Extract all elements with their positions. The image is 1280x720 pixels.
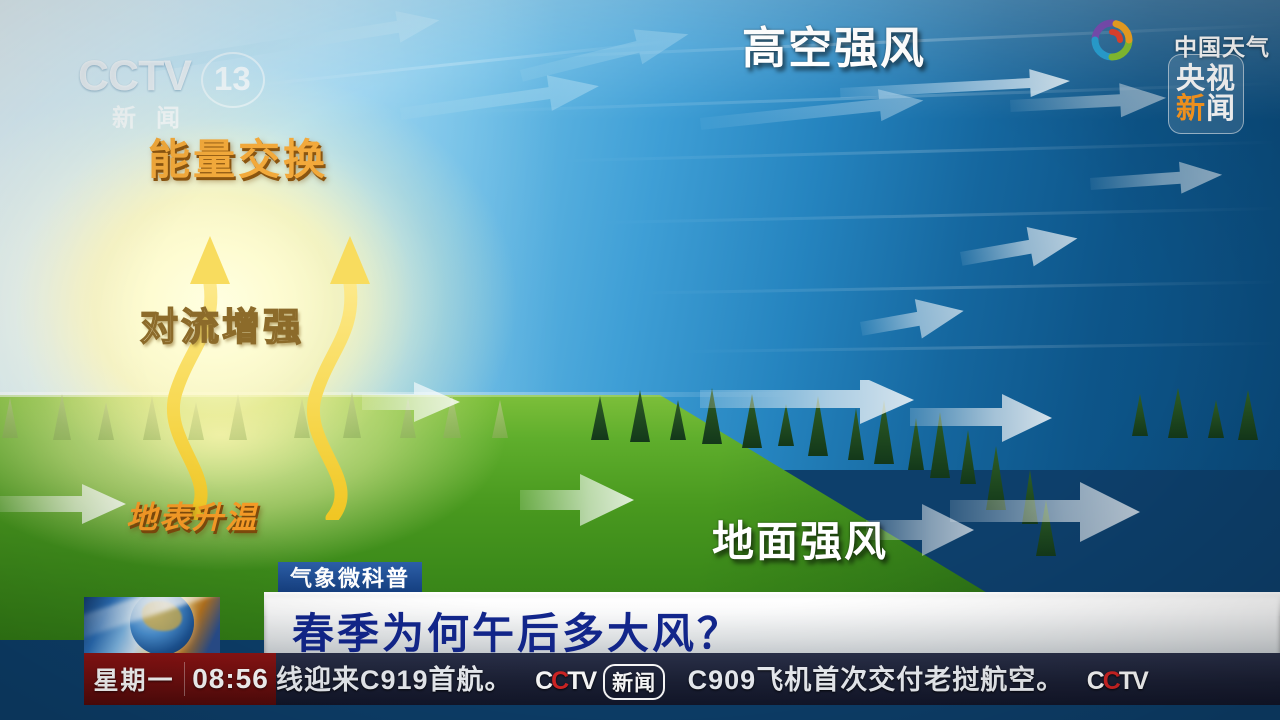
ticker-cctv-text: CCTV (535, 667, 595, 696)
cctv-news-badge: 央视 新闻 (1168, 54, 1244, 134)
channel-watermark: CCTV 13 新闻 (78, 52, 298, 130)
ticker-news-badge: 新闻 (603, 664, 665, 700)
label-energy-exchange: 能量交换 (148, 126, 328, 187)
badge-char-white: 闻 (1206, 93, 1236, 125)
news-ticker: 线迎来C919首航。 CCTV 新闻 C909飞机首次交付老挝航空。 CCTV (276, 653, 1280, 705)
headline-text: 春季为何午后多大风？ (292, 600, 742, 661)
status-bar: 星期一 08:56 (84, 653, 276, 705)
category-tag: 气象微科普 (278, 562, 422, 592)
ticker-content: 线迎来C919首航。 CCTV 新闻 C909飞机首次交付老挝航空。 CCTV (276, 658, 1161, 700)
cctv-news-badge-line2: 新闻 (1176, 95, 1236, 124)
channel-watermark-main: CCTV (78, 52, 191, 100)
label-surface-heating: 地表升温 (126, 492, 258, 537)
clock-label: 08:56 (185, 663, 276, 695)
channel-watermark-sub: 新闻 (112, 98, 200, 133)
cctv-news-badge-line1: 央视 (1176, 65, 1236, 94)
ticker-segment-1: 线迎来C919首航。 (276, 658, 513, 697)
ticker-cctv-logo: CCTV 新闻 (535, 664, 665, 700)
label-high-altitude-wind: 高空强风 (742, 12, 926, 76)
badge-char-orange: 新 (1176, 93, 1206, 125)
channel-watermark-number: 13 (214, 60, 251, 98)
ticker-segment-2: C909飞机首次交付老挝航空。 (688, 658, 1065, 697)
ticker-cctv-logo-2: CCTV (1087, 667, 1147, 696)
brand-block: 中国天气 央视 新闻 (1086, 10, 1272, 132)
ticker-cctv-text-2: CCTV (1087, 667, 1147, 696)
weather-swirl-icon (1088, 16, 1136, 64)
weekday-label: 星期一 (84, 661, 184, 697)
label-ground-wind: 地面强风 (712, 508, 888, 569)
label-convection-enhanced: 对流增强 (140, 296, 304, 351)
broadcast-screen: 高空强风 能量交换 对流增强 地表升温 地面强风 CCTV 13 新闻 中国天气… (0, 0, 1280, 720)
globe-graphic (84, 597, 220, 653)
